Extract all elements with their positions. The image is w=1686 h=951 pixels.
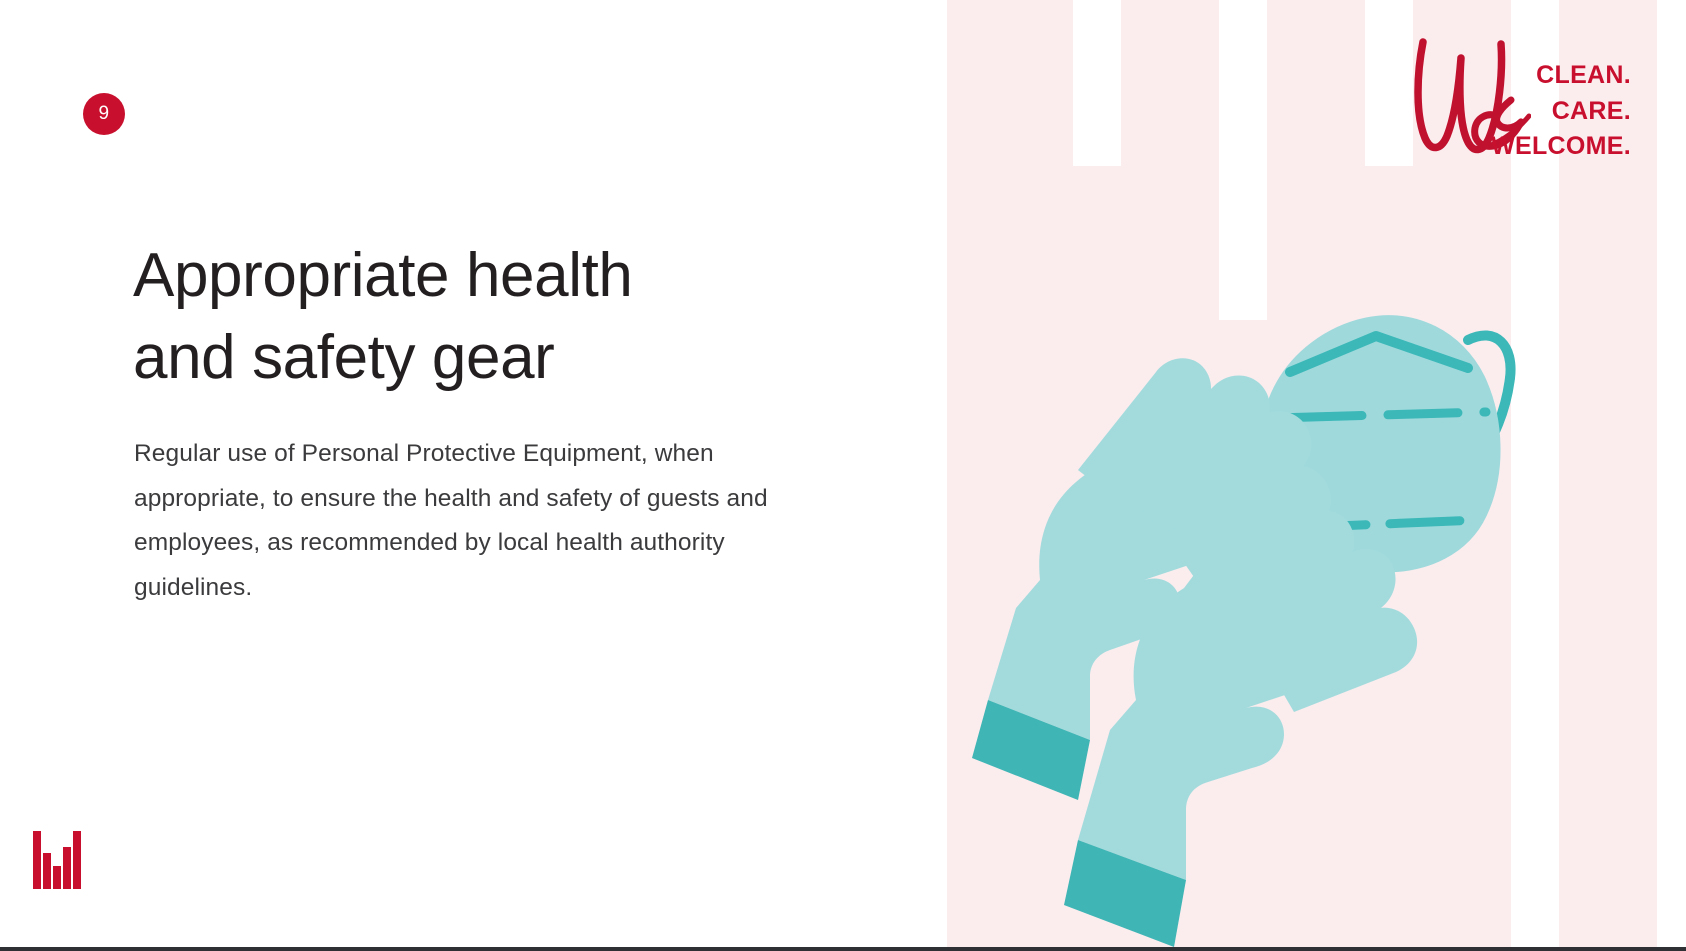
page-number-badge: 9 — [83, 93, 125, 135]
brand-tagline: CLEAN. CARE. WELCOME. — [1491, 58, 1631, 165]
brand-tagline-line-3: WELCOME. — [1491, 129, 1631, 165]
slide-bottom-rule — [0, 947, 1686, 951]
body-paragraph: Regular use of Personal Protective Equip… — [134, 432, 824, 610]
brand-tagline-line-2: CARE. — [1552, 94, 1631, 130]
slide: 9 Appropriate health and safety gear Reg… — [0, 0, 1686, 951]
brand-logo: CLEAN. CARE. WELCOME. — [1401, 28, 1631, 163]
bar-chart-logo-icon — [33, 831, 81, 889]
page-title: Appropriate health and safety gear — [133, 235, 833, 400]
brand-tagline-line-1: CLEAN. — [1536, 58, 1631, 94]
